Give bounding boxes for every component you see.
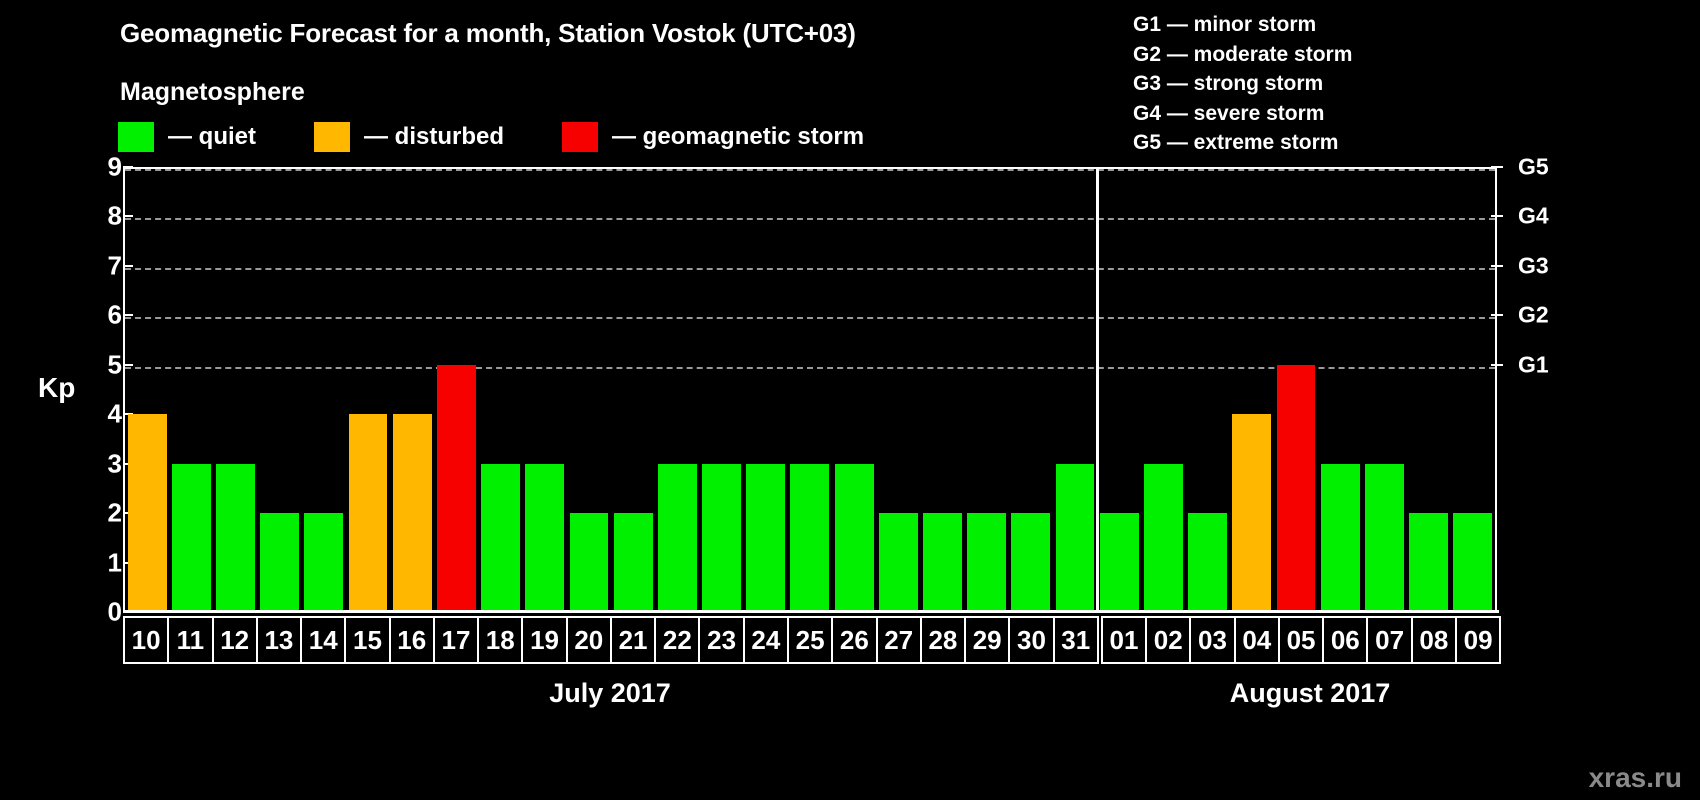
- bar-cell[interactable]: [1274, 169, 1318, 612]
- bar-cell[interactable]: [390, 169, 434, 612]
- bar-cell[interactable]: [1141, 169, 1185, 612]
- bar-cell[interactable]: [434, 169, 478, 612]
- watermark: xras.ru: [1589, 762, 1682, 794]
- date-label-31[interactable]: 31: [1053, 616, 1099, 664]
- date-label-16[interactable]: 16: [389, 616, 435, 664]
- bar-cell[interactable]: [1318, 169, 1362, 612]
- date-label-21[interactable]: 21: [610, 616, 656, 664]
- bar-15[interactable]: [349, 414, 388, 612]
- bar-05[interactable]: [1277, 365, 1316, 612]
- legend-item-storm: — geomagnetic storm: [562, 122, 864, 152]
- orange-square-icon: [314, 122, 350, 152]
- date-label-27[interactable]: 27: [876, 616, 922, 664]
- date-label-22[interactable]: 22: [654, 616, 700, 664]
- magnetosphere-legend: — quiet — disturbed — geomagnetic storm: [118, 122, 922, 152]
- date-label-07[interactable]: 07: [1366, 616, 1412, 664]
- date-label-19[interactable]: 19: [521, 616, 567, 664]
- magnetosphere-heading: Magnetosphere: [120, 78, 305, 107]
- date-label-17[interactable]: 17: [433, 616, 479, 664]
- bar-cell[interactable]: [655, 169, 699, 612]
- y-tick-label-0: 0: [108, 597, 122, 628]
- g-axis-labels: G1G2G3G4G5: [1504, 167, 1584, 612]
- bar-cell[interactable]: [1362, 169, 1406, 612]
- page-title: Geomagnetic Forecast for a month, Statio…: [120, 18, 856, 49]
- legend-item-disturbed: — disturbed: [314, 122, 504, 152]
- bar-17[interactable]: [437, 365, 476, 612]
- date-label-04[interactable]: 04: [1234, 616, 1280, 664]
- bar-series: [125, 169, 1495, 612]
- bar-cell[interactable]: [213, 169, 257, 612]
- bar-cell[interactable]: [699, 169, 743, 612]
- storm-scale-g2: G2 — moderate storm: [1133, 40, 1352, 70]
- bar-10[interactable]: [128, 414, 167, 612]
- bar-19[interactable]: [525, 464, 564, 612]
- legend-label-storm: — geomagnetic storm: [612, 123, 864, 151]
- bar-07[interactable]: [1365, 464, 1404, 612]
- storm-scale-g1: G1 — minor storm: [1133, 10, 1352, 40]
- bar-30[interactable]: [1011, 513, 1050, 612]
- legend-label-disturbed: — disturbed: [364, 123, 504, 151]
- bar-cell[interactable]: [302, 169, 346, 612]
- y-tick-label-7: 7: [108, 250, 122, 281]
- bar-cell[interactable]: [523, 169, 567, 612]
- bar-cell[interactable]: [876, 169, 920, 612]
- bar-11[interactable]: [172, 464, 211, 612]
- plot-frame: [123, 167, 1497, 612]
- date-label-29[interactable]: 29: [964, 616, 1010, 664]
- red-square-icon: [562, 122, 598, 152]
- date-label-11[interactable]: 11: [167, 616, 213, 664]
- date-label-12[interactable]: 12: [212, 616, 258, 664]
- bar-cell[interactable]: [744, 169, 788, 612]
- bar-22[interactable]: [658, 464, 697, 612]
- bar-25[interactable]: [790, 464, 829, 612]
- bar-01[interactable]: [1100, 513, 1139, 612]
- bar-31[interactable]: [1056, 464, 1095, 612]
- month-label-august: August 2017: [1120, 678, 1500, 709]
- bar-09[interactable]: [1453, 513, 1492, 612]
- bar-24[interactable]: [746, 464, 785, 612]
- bar-cell[interactable]: [832, 169, 876, 612]
- g-tick-g3: [1491, 265, 1503, 267]
- g-tick-label-g5: G5: [1518, 154, 1549, 181]
- date-label-08[interactable]: 08: [1411, 616, 1457, 664]
- g-tick-label-g2: G2: [1518, 302, 1549, 329]
- date-label-10[interactable]: 10: [123, 616, 169, 664]
- bar-cell[interactable]: [788, 169, 832, 612]
- y-tick-label-6: 6: [108, 300, 122, 331]
- bar-02[interactable]: [1144, 464, 1183, 612]
- y-tick-label-2: 2: [108, 498, 122, 529]
- bar-14[interactable]: [304, 513, 343, 612]
- date-label-02[interactable]: 02: [1145, 616, 1191, 664]
- date-label-25[interactable]: 25: [787, 616, 833, 664]
- bar-29[interactable]: [967, 513, 1006, 612]
- g-tick-g2: [1491, 314, 1503, 316]
- date-label-13[interactable]: 13: [256, 616, 302, 664]
- bar-20[interactable]: [570, 513, 609, 612]
- legend-label-quiet: — quiet: [168, 123, 256, 151]
- bar-21[interactable]: [614, 513, 653, 612]
- bar-cell[interactable]: [125, 169, 169, 612]
- bar-cell[interactable]: [479, 169, 523, 612]
- bar-cell[interactable]: [567, 169, 611, 612]
- storm-scale-g5: G5 — extreme storm: [1133, 128, 1352, 158]
- g-tick-label-g4: G4: [1518, 203, 1549, 230]
- legend-item-quiet: — quiet: [118, 122, 256, 152]
- x-axis-line: [123, 610, 1499, 613]
- month-divider: [1096, 169, 1099, 612]
- y-tick-label-1: 1: [108, 547, 122, 578]
- g-tick-g5: [1491, 166, 1503, 168]
- bar-cell[interactable]: [1230, 169, 1274, 612]
- y-tick-label-9: 9: [108, 152, 122, 183]
- chart-plot-area: [123, 167, 1497, 612]
- date-label-23[interactable]: 23: [698, 616, 744, 664]
- storm-scale-g4: G4 — severe storm: [1133, 99, 1352, 129]
- bar-26[interactable]: [835, 464, 874, 612]
- month-label-july: July 2017: [420, 678, 800, 709]
- date-label-20[interactable]: 20: [566, 616, 612, 664]
- date-label-05[interactable]: 05: [1278, 616, 1324, 664]
- date-label-09[interactable]: 09: [1455, 616, 1501, 664]
- storm-scale-legend: G1 — minor storm G2 — moderate storm G3 …: [1133, 10, 1352, 158]
- y-axis-labels: 0123456789: [78, 167, 122, 612]
- bar-28[interactable]: [923, 513, 962, 612]
- bar-cell[interactable]: [1186, 169, 1230, 612]
- storm-scale-g3: G3 — strong storm: [1133, 69, 1352, 99]
- bar-cell[interactable]: [258, 169, 302, 612]
- y-tick-label-5: 5: [108, 349, 122, 380]
- bar-cell[interactable]: [1406, 169, 1450, 612]
- bar-cell[interactable]: [611, 169, 655, 612]
- bar-cell[interactable]: [169, 169, 213, 612]
- bar-08[interactable]: [1409, 513, 1448, 612]
- date-label-03[interactable]: 03: [1189, 616, 1235, 664]
- bar-03[interactable]: [1188, 513, 1227, 612]
- g-tick-g1: [1491, 364, 1503, 366]
- bar-04[interactable]: [1232, 414, 1271, 612]
- y-tick-label-4: 4: [108, 399, 122, 430]
- date-label-01[interactable]: 01: [1101, 616, 1147, 664]
- g-tick-label-g1: G1: [1518, 351, 1549, 378]
- date-label-14[interactable]: 14: [300, 616, 346, 664]
- g-tick-g4: [1491, 215, 1503, 217]
- bar-13[interactable]: [260, 513, 299, 612]
- bar-cell[interactable]: [346, 169, 390, 612]
- y-tick-label-8: 8: [108, 201, 122, 232]
- date-label-24[interactable]: 24: [743, 616, 789, 664]
- bar-cell[interactable]: [1053, 169, 1097, 612]
- bar-cell[interactable]: [965, 169, 1009, 612]
- y-axis-title: Kp: [38, 372, 75, 404]
- bar-18[interactable]: [481, 464, 520, 612]
- green-square-icon: [118, 122, 154, 152]
- bar-27[interactable]: [879, 513, 918, 612]
- date-label-26[interactable]: 26: [831, 616, 877, 664]
- bar-23[interactable]: [702, 464, 741, 612]
- bar-06[interactable]: [1321, 464, 1360, 612]
- g-axis-ticks: [1489, 167, 1503, 612]
- date-label-15[interactable]: 15: [344, 616, 390, 664]
- date-label-06[interactable]: 06: [1322, 616, 1368, 664]
- date-label-28[interactable]: 28: [920, 616, 966, 664]
- bar-cell[interactable]: [1097, 169, 1141, 612]
- bar-cell[interactable]: [1009, 169, 1053, 612]
- bar-cell[interactable]: [920, 169, 964, 612]
- date-axis: 1011121314151617181920212223242526272829…: [123, 616, 1499, 664]
- bar-16[interactable]: [393, 414, 432, 612]
- date-label-18[interactable]: 18: [477, 616, 523, 664]
- bar-12[interactable]: [216, 464, 255, 612]
- y-tick-label-3: 3: [108, 448, 122, 479]
- date-label-30[interactable]: 30: [1008, 616, 1054, 664]
- g-tick-label-g3: G3: [1518, 252, 1549, 279]
